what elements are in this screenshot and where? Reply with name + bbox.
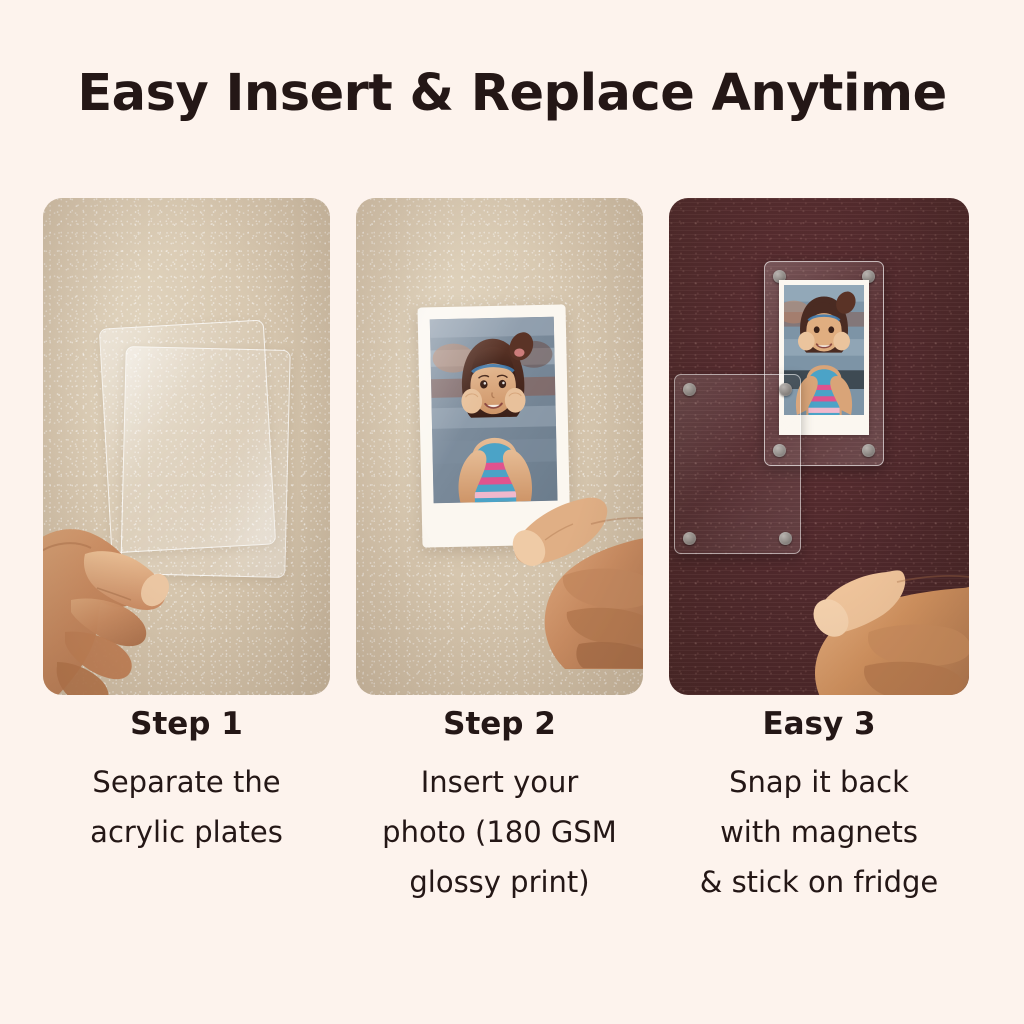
plate-magnet-top-right — [779, 383, 792, 396]
step-2-image-panel — [356, 198, 643, 695]
plate-magnet-top-left — [683, 383, 696, 396]
step-3-image-panel — [669, 198, 969, 695]
step-3-description: Snap it back with magnets & stick on fri… — [669, 758, 969, 908]
page-title: Easy Insert & Replace Anytime — [0, 64, 1024, 123]
step-1-description: Separate the acrylic plates — [43, 758, 330, 858]
right-hand-holding-photo — [487, 464, 643, 669]
magnet-bottom-right — [862, 444, 875, 457]
caption-step-3: Easy 3 Snap it back with magnets & stick… — [669, 706, 969, 908]
caption-step-2: Step 2 Insert your photo (180 GSM glossy… — [356, 706, 643, 908]
right-hand-pressing-plate — [781, 516, 969, 695]
plate-magnet-bottom-left — [683, 532, 696, 545]
step-1-image-panel — [43, 198, 330, 695]
step-2-description: Insert your photo (180 GSM glossy print) — [356, 758, 643, 908]
steps-panel-row — [43, 198, 983, 695]
captions-row: Step 1 Separate the acrylic plates Step … — [43, 706, 983, 908]
step-1-label: Step 1 — [43, 706, 330, 742]
left-hand-holding-plates — [43, 496, 187, 695]
caption-step-1: Step 1 Separate the acrylic plates — [43, 706, 330, 908]
step-3-label: Easy 3 — [669, 706, 969, 742]
step-2-label: Step 2 — [356, 706, 643, 742]
